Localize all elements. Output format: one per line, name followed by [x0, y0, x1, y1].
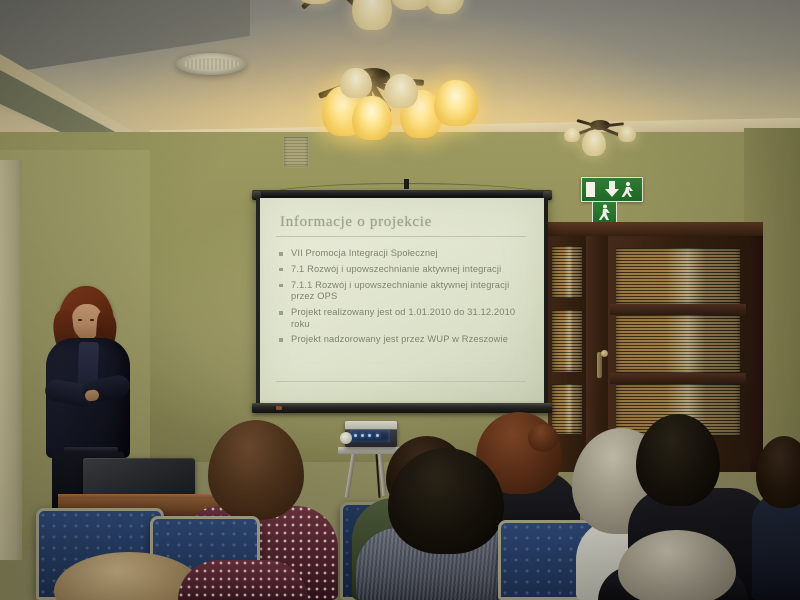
door-pane-right-top [616, 248, 740, 304]
upper-ceiling-chandelier-icon [230, 0, 460, 38]
presentation-slide: Informacje o projekcie VII Promocja Inte… [266, 206, 538, 396]
door-handle-knob[interactable] [601, 350, 608, 357]
main-ceiling-chandelier-icon [310, 62, 490, 142]
audience-member-dark-right-head [636, 414, 720, 506]
slide-title-rule [276, 236, 526, 237]
projector-stand-shelf [338, 447, 400, 454]
slide-bullet-item: VII Promocja Integracji Społecznej [278, 248, 530, 259]
projector-control-panel[interactable] [350, 430, 390, 442]
audience-member-far-right-body [752, 492, 800, 600]
slide-bullet-item: 7.1 Rozwój i upowszechnianie aktywnej in… [278, 264, 530, 275]
door-rail-lower [610, 373, 746, 384]
slide-bullet-item: Projekt realizowany jest od 1.01.2010 do… [278, 307, 530, 330]
door-pane-left-top [552, 246, 582, 298]
small-right-chandelier-icon [556, 116, 642, 162]
door-pane-left-mid [552, 310, 582, 372]
door-head-trim [548, 222, 763, 236]
slide-footer-rule [276, 381, 526, 382]
screen-brand-mark [276, 406, 282, 410]
slide-bullet-list: VII Promocja Integracji Społecznej 7.1 R… [278, 248, 530, 350]
audience-member-bun-knot [528, 424, 558, 452]
door-rail-upper [610, 304, 746, 315]
left-wall-pillar [0, 160, 22, 560]
screen-hanger-clip [404, 179, 409, 189]
projector-lens-icon [340, 432, 352, 444]
conference-room-photo: Informacje o projekcie VII Promocja Inte… [0, 0, 800, 600]
exit-emergency-sign [581, 177, 643, 202]
audience-member-polka-foreground [178, 560, 308, 600]
door-pane-left-bottom [552, 384, 582, 434]
slide-bullet-item: 7.1.1 Rozwój i upowszechnianie aktywnej … [278, 280, 530, 303]
running-man-glyph [593, 202, 616, 224]
recessed-ceiling-light-icon [176, 53, 246, 75]
slide-title: Informacje o projekcie [280, 214, 432, 231]
projection-screen-weight-bar [252, 403, 552, 413]
slide-bullet-item: Projekt nadzorowany jest przez WUP w Rze… [278, 334, 530, 345]
wall-ventilation-grille-icon [283, 136, 309, 168]
exit-sign-glyph [582, 178, 642, 201]
door-pane-right-mid [616, 315, 740, 373]
